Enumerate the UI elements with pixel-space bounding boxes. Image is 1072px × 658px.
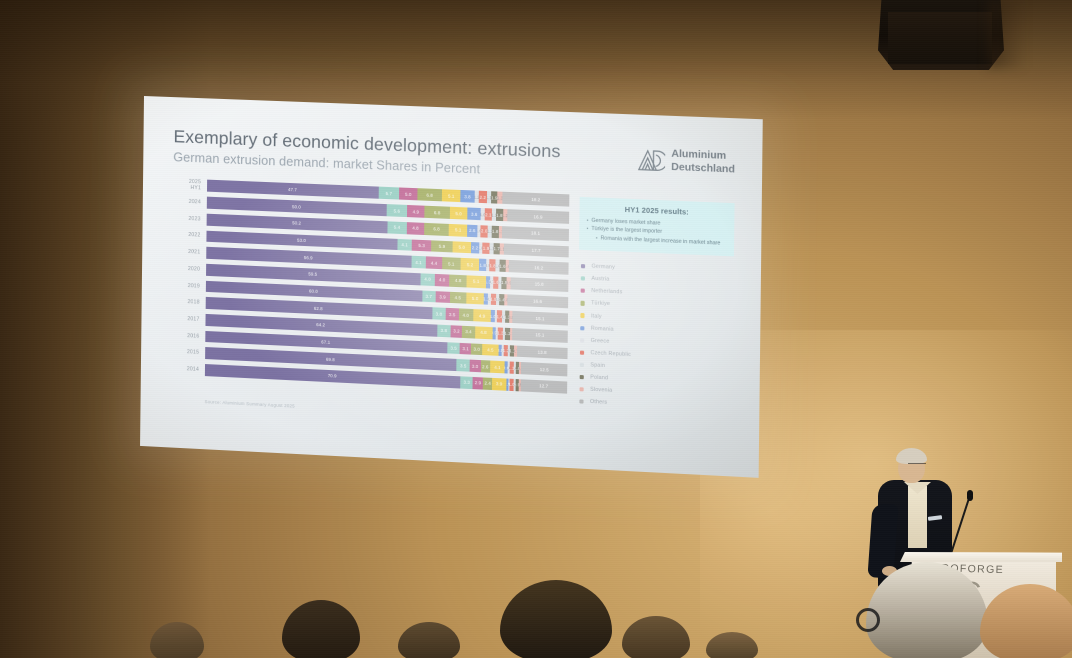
chart-segment: 5.1 [467,275,486,288]
presenter-glasses-icon [908,463,926,467]
legend-label: Czech Republic [590,350,631,358]
chart-segment: 4.5 [482,344,499,357]
chart-segment: 5.4 [387,221,407,234]
logo-line-2: Deutschland [671,161,735,176]
chart-segment: 18.1 [502,226,568,241]
ceiling-speaker-face [888,12,992,64]
presenter-shirt [908,486,927,548]
legend-label: Poland [590,374,608,381]
slide-surface: Exemplary of economic development: extru… [140,96,763,478]
legend-label: Germany [591,264,615,271]
legend-swatch-icon [580,313,584,317]
legend-label: Italy [591,313,602,320]
chart-row-label: 2014 [171,365,205,373]
chart-segment: 13.8 [517,345,568,359]
legend-swatch-icon [581,289,585,293]
chart-legend: GermanyAustriaNetherlandsTürkiyeItalyRom… [577,260,734,415]
chart-segment: 6.8 [425,206,450,219]
chart-segment: 5.0 [466,292,484,305]
chart-segment: 4.4 [426,257,442,270]
chart-segment: 12.7 [520,379,567,393]
chart-segment: 2.4 [483,377,492,389]
legend-label: Others [590,399,607,406]
chart-segment: 2.2 [479,191,487,203]
chart-segment: 18.2 [502,192,569,207]
callout-title: HY1 2025 results: [587,203,727,218]
chart-segment: 4.8 [475,326,493,339]
legend-swatch-icon [580,363,584,367]
chart-segment: 2.6 [467,225,477,237]
chart-segment: 5.2 [460,258,479,271]
chart-row-label: 2018 [172,299,206,307]
chart-segment: 4.9 [473,309,491,322]
chart-segment: 3.4 [462,326,475,339]
chart-segment: 15.1 [512,311,567,326]
chart-segment: 3.3 [461,376,473,389]
chart-segment: 3.5 [457,359,470,372]
chart-segment: 15.8 [510,277,568,292]
chart-segment: 5.1 [442,257,461,270]
bullet-icon: ▪ [596,235,598,242]
chart-segment: 17.7 [504,243,569,258]
chart-segment: 3.8 [432,307,446,320]
chart-segment: 5.0 [453,241,471,254]
logo-mark-icon [636,147,665,174]
chart-segment: 6.8 [417,189,442,202]
chart-segment: 3.7 [422,290,436,303]
projection-screen: Exemplary of economic development: extru… [140,96,763,478]
chart-area: 2025HY147.75.75.06.85.13.81.22.21.11.91.… [171,178,735,415]
chart-segment: 16.6 [507,294,568,309]
chart-row-label: 2022 [172,232,206,239]
chart-segment: 4.9 [407,205,425,218]
legend-swatch-icon [580,375,584,379]
callout-items: ▪Germany loses market share▪Türkiye is t… [586,217,727,247]
chart-segment: 4.0 [420,273,435,286]
chart-segment: 5.1 [449,224,468,237]
chart-segment: 4.0 [435,274,450,287]
chart-segment: 4.8 [449,274,467,287]
conference-room-photo: Exemplary of economic development: extru… [0,0,1072,658]
podium-top-surface [900,552,1062,562]
aluminium-deutschland-logo: Aluminium Deutschland [636,147,735,176]
ceiling-speaker-shadow [988,0,1026,68]
chart-segment: 4.0 [458,309,473,322]
chart-segment: 5.3 [412,239,431,252]
microphone-head [967,490,973,501]
stacked-bar-chart: 2025HY147.75.75.06.85.13.81.22.21.11.91.… [171,178,570,407]
chart-segment: 3.5 [447,342,460,355]
chart-segment: 3.6 [468,208,481,220]
chart-row-label: 2015 [171,349,205,357]
chart-segment: 5.1 [442,190,461,203]
chart-segment: 4.5 [450,291,467,304]
legend-swatch-icon [581,264,585,268]
logo-text: Aluminium Deutschland [671,149,735,176]
chart-segment: 3.2 [451,325,463,337]
chart-segment: 3.9 [435,291,449,304]
chart-row-label: 2021 [172,248,206,256]
legend-label: Greece [591,338,610,345]
legend-swatch-icon [580,338,584,342]
chart-segment: 3.1 [460,343,471,355]
legend-swatch-icon [579,400,583,404]
chart-segment: 2.6 [480,360,490,372]
legend-label: Austria [591,276,609,283]
chart-row-label: 2020 [172,265,206,273]
chart-segment: 5.6 [387,204,407,217]
chart-segment: 6.8 [424,223,449,236]
chart-row-label: 2025HY1 [173,179,207,192]
chart-segment: 4.8 [407,222,425,235]
slide-content: Exemplary of economic development: extru… [140,96,763,478]
chart-segment: 5.0 [449,207,467,220]
chart-segment: 3.0 [471,343,482,355]
chart-row-label: 2017 [171,315,205,323]
bullet-icon: ▪ [587,217,589,224]
hy1-results-callout: HY1 2025 results: ▪Germany loses market … [579,196,734,256]
chart-segment: 16.2 [509,260,569,275]
legend-swatch-icon [580,387,584,391]
audience-glasses-icon [856,608,880,632]
legend-label: Netherlands [591,288,622,296]
chart-segment: 2.9 [473,377,484,389]
chart-segment: 12.5 [521,362,567,376]
legend-label: Slovenia [590,387,612,394]
chart-row-label: 2024 [173,198,207,205]
chart-segment: 2.1 [484,208,492,220]
legend-swatch-icon [581,276,585,280]
chart-segment: 2.2 [471,242,479,254]
chart-segment: 5.7 [378,187,399,200]
chart-segment: 3.0 [470,360,481,372]
chart-segment: 15.1 [512,328,567,343]
chart-segment: 3.9 [492,378,506,391]
legend-label: Spain [590,362,605,369]
chart-row-label: 2019 [172,282,206,290]
slide-heading-block: Exemplary of economic development: extru… [173,127,560,179]
legend-label: Türkiye [591,301,610,308]
legend-swatch-icon [580,326,584,330]
legend-swatch-icon [580,350,584,354]
chart-segment: 3.8 [437,325,451,338]
chart-segment: 4.1 [397,238,412,251]
chart-segment: 3.5 [446,308,459,321]
bullet-icon: ▪ [587,226,589,233]
slide-header: Exemplary of economic development: extru… [173,127,735,186]
chart-segment: 16.9 [507,209,569,224]
chart-row-label: 2023 [173,215,207,222]
legend-label: Romania [591,325,614,332]
chart-segment: 5.9 [431,240,453,253]
chart-segment: 4.1 [490,361,505,374]
chart-segment: 5.0 [399,188,417,201]
chart-row-label: 2016 [171,332,205,340]
chart-segment: 3.8 [461,190,475,203]
chart-side-panel: HY1 2025 results: ▪Germany loses market … [573,194,734,415]
chart-segment: 4.1 [411,256,426,269]
legend-swatch-icon [581,301,585,305]
presenter-hair [896,448,927,464]
